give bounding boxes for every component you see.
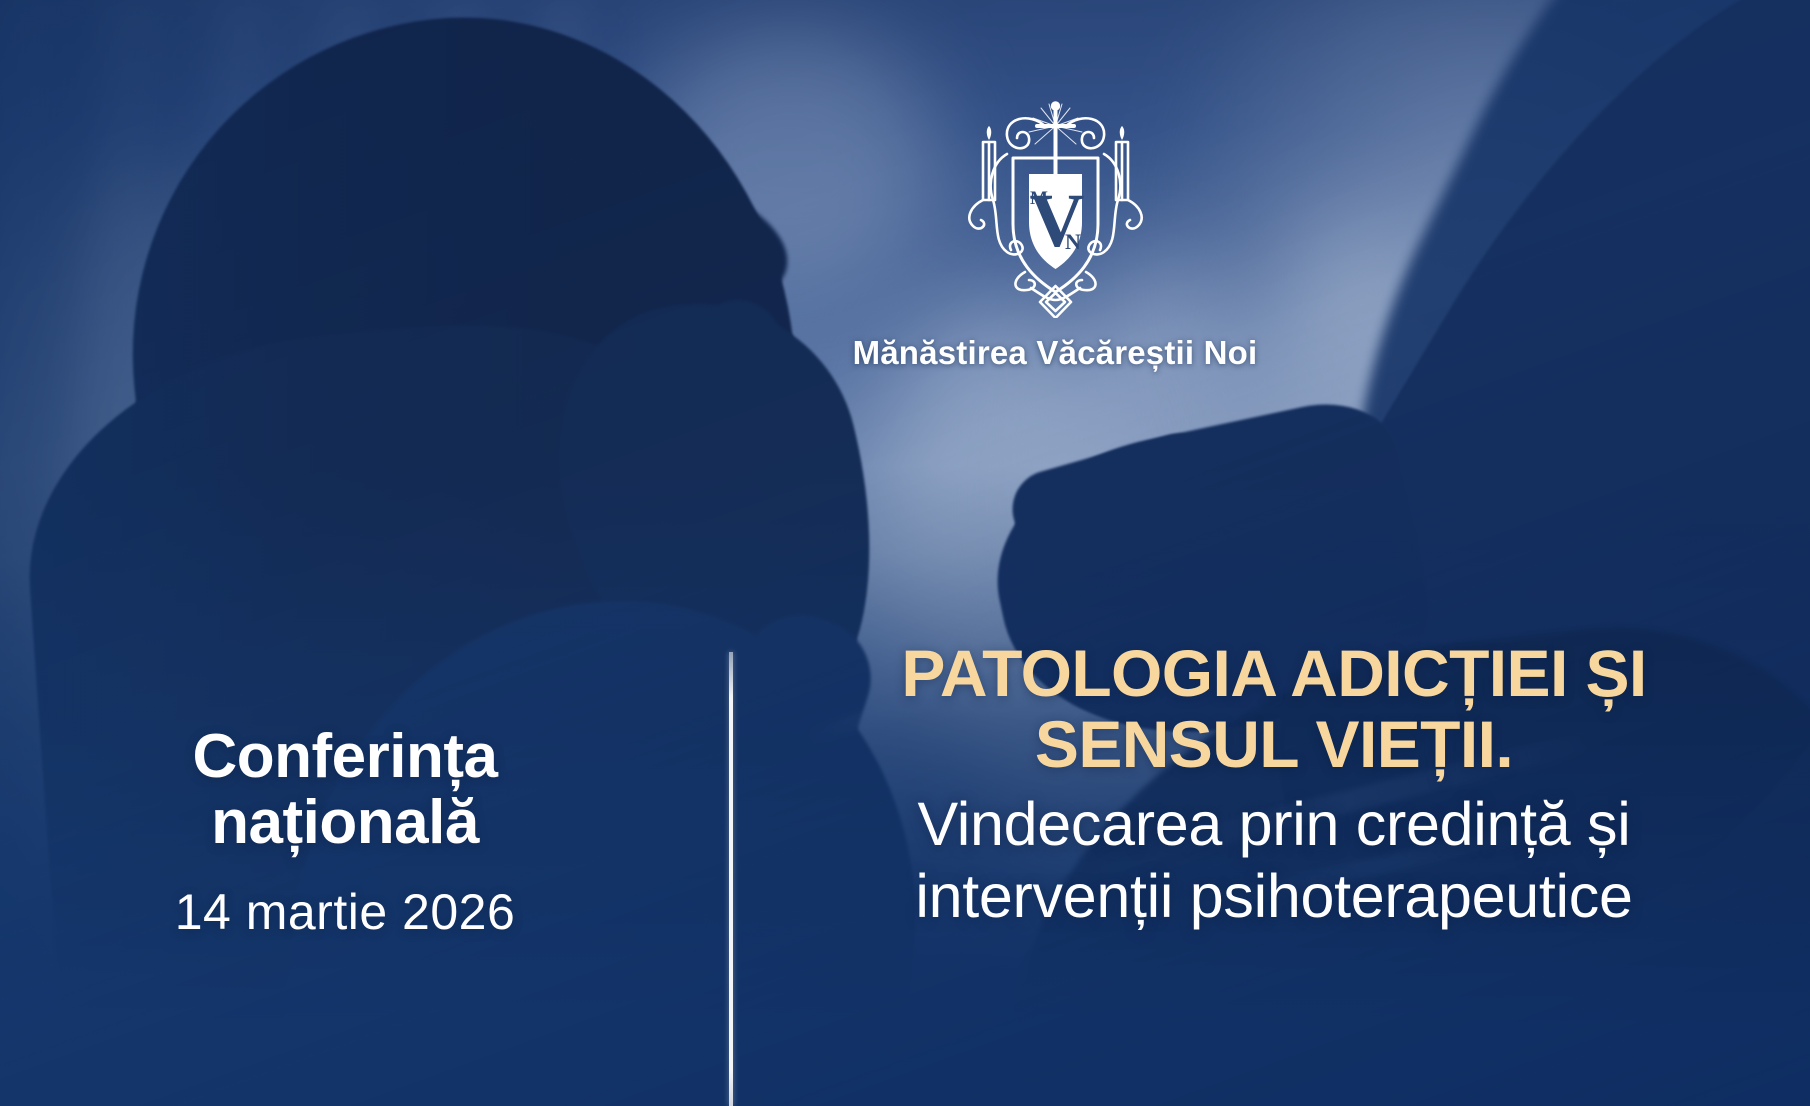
conference-date: 14 martie 2026 [0,883,690,941]
conference-title: Conferința națională [0,724,690,857]
theme-title: PATOLOGIA ADICȚIEI ȘI SENSUL VIEȚII. [760,638,1788,781]
theme-title-line-2: SENSUL VIEȚII. [760,709,1788,780]
conference-title-line-2: națională [211,788,479,857]
theme-title-line-1: PATOLOGIA ADICȚIEI ȘI [760,638,1788,709]
conference-title-line-1: Conferința [193,722,498,791]
theme-subtitle-line-1: Vindecarea prin credință și [760,789,1788,861]
theme-subtitle-line-2: intervenții psihoterapeutice [760,861,1788,933]
conference-theme-block: PATOLOGIA ADICȚIEI ȘI SENSUL VIEȚII. Vin… [760,638,1788,932]
conference-poster: M V N Mănăstirea Văcăreștii Noi Conferin… [0,0,1810,1106]
vertical-divider [729,652,733,1106]
theme-subtitle: Vindecarea prin credință și intervenții … [760,789,1788,933]
conference-info-block: Conferința națională 14 martie 2026 [0,724,690,941]
